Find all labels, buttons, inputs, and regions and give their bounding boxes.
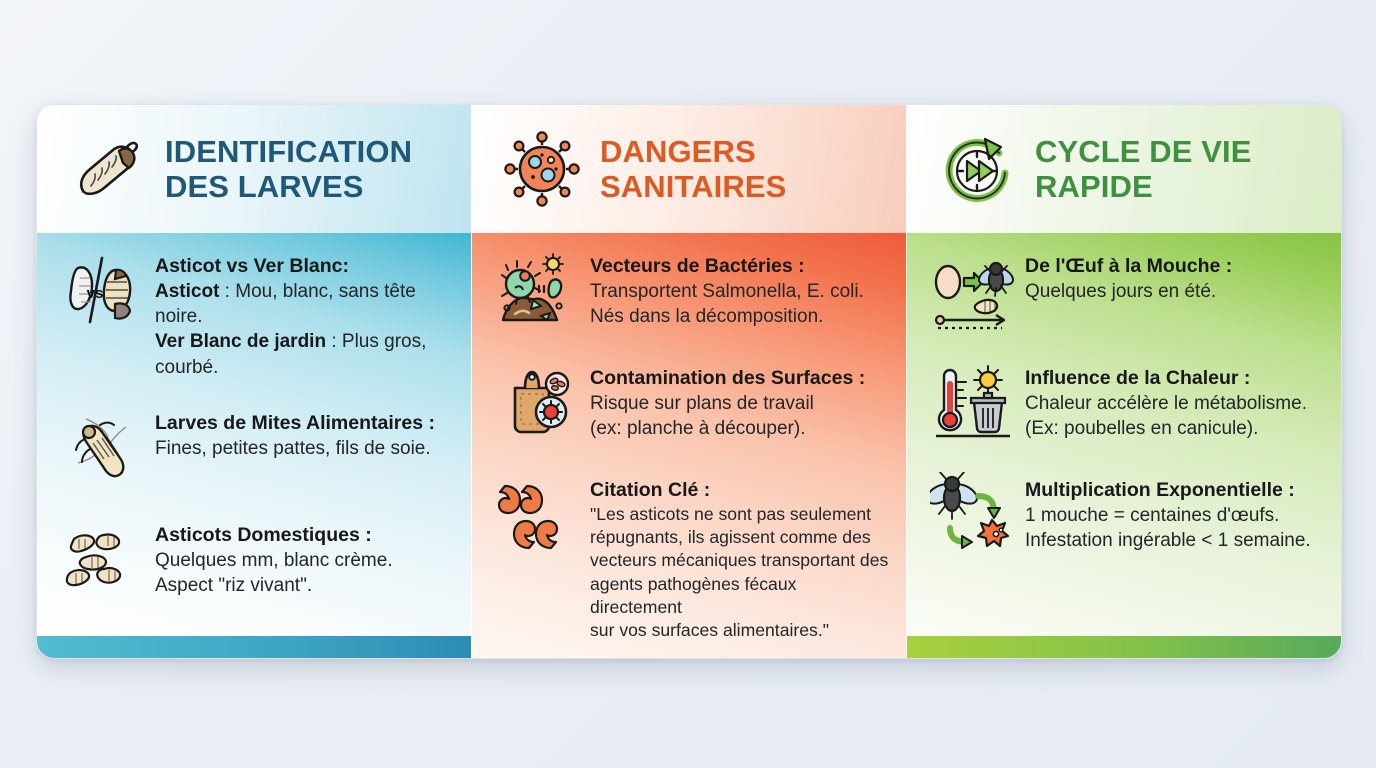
quote-line: agents pathogènes fécaux directement <box>590 573 890 619</box>
item-title: Vecteurs de Bactéries : <box>590 254 890 279</box>
item-line-rest: "Les asticots ne sont pas seulement <box>590 504 871 524</box>
list-item: Larves de Mites Alimentaires : Fines, pe… <box>51 404 455 492</box>
column-cycle: CYCLE DE VIE RAPIDE <box>906 105 1341 658</box>
item-line: Quelques jours en été. <box>1025 279 1325 304</box>
column-dangers: DANGERS SANITAIRES <box>471 105 906 658</box>
accent-bar-cycle <box>907 636 1341 658</box>
list-item: Influence de la Chaleur : Chaleur accélè… <box>921 359 1325 447</box>
item-line: Aspect "riz vivant". <box>155 573 455 598</box>
list-item-text: Asticot vs Ver Blanc: Asticot : Mou, bla… <box>155 247 455 380</box>
column-body-cycle: De l'Œuf à la Mouche : Quelques jours en… <box>907 233 1341 636</box>
title-line-1: IDENTIFICATION <box>165 134 412 169</box>
item-line-rest: Infestation ingérable < 1 semaine. <box>1025 530 1311 551</box>
virus-icon <box>494 121 590 217</box>
title-line-1: DANGERS <box>600 134 786 169</box>
list-item-text: Vecteurs de Bactéries : Transportent Sal… <box>590 247 890 329</box>
item-line-rest: Aspect "riz vivant". <box>155 575 312 596</box>
item-line: Risque sur plans de travail <box>590 391 890 416</box>
list-item: vs Asticot vs Ver Blanc: Asticot : Mou, … <box>51 247 455 380</box>
item-line: (ex: planche à découper). <box>590 416 890 441</box>
item-line-rest: sur vos surfaces alimentaires." <box>590 620 829 640</box>
item-line-rest: Transportent Salmonella, E. coli. <box>590 281 864 302</box>
fly-multiplication-icon <box>921 471 1025 559</box>
svg-text:vs: vs <box>87 285 104 302</box>
infographic-card: IDENTIFICATION DES LARVES <box>36 104 1342 659</box>
item-title: Larves de Mites Alimentaires : <box>155 411 455 436</box>
larva-versus-grub-icon: vs <box>51 247 155 335</box>
item-title: De l'Œuf à la Mouche : <box>1025 254 1325 279</box>
title-line-2: SANITAIRES <box>600 169 786 204</box>
accent-bar-identification <box>37 636 471 658</box>
item-line: Quelques mm, blanc crème. <box>155 548 455 573</box>
column-header-identification: IDENTIFICATION DES LARVES <box>37 105 471 233</box>
column-title-dangers: DANGERS SANITAIRES <box>600 134 786 204</box>
quote-line: répugnants, ils agissent comme des <box>590 526 890 549</box>
list-item-text: Asticots Domestiques : Quelques mm, blan… <box>155 516 455 598</box>
list-item: Multiplication Exponentielle : 1 mouche … <box>921 471 1325 559</box>
item-title: Asticot vs Ver Blanc: <box>155 254 455 279</box>
quote-line: vecteurs mécaniques transportant des <box>590 549 890 572</box>
bacteria-on-waste-icon <box>486 247 590 335</box>
list-item-text: Citation Clé : "Les asticots ne sont pas… <box>590 471 890 642</box>
item-line-rest: répugnants, ils agissent comme des <box>590 527 871 547</box>
item-line: Ver Blanc de jardin : Plus gros, courbé. <box>155 329 455 380</box>
list-item-text: Influence de la Chaleur : Chaleur accélè… <box>1025 359 1325 441</box>
column-identification: IDENTIFICATION DES LARVES <box>37 105 471 658</box>
quote-line: "Les asticots ne sont pas seulement <box>590 503 890 526</box>
item-line-rest: (Ex: poubelles en canicule). <box>1025 418 1258 439</box>
list-item: De l'Œuf à la Mouche : Quelques jours en… <box>921 247 1325 335</box>
item-line: Fines, petites pattes, fils de soie. <box>155 436 455 461</box>
item-line-rest: Chaleur accélère le métabolisme. <box>1025 393 1307 414</box>
item-line-bold: Asticot <box>155 281 219 302</box>
item-line-rest: Quelques jours en été. <box>1025 281 1216 302</box>
list-item: Asticots Domestiques : Quelques mm, blan… <box>51 516 455 604</box>
maggot-cluster-icon <box>51 516 155 604</box>
column-body-dangers: Vecteurs de Bactéries : Transportent Sal… <box>472 233 906 659</box>
item-line-rest: agents pathogènes fécaux directement <box>590 574 796 617</box>
item-line-rest: 1 mouche = centaines d'œufs. <box>1025 505 1279 526</box>
column-body-identification: vs Asticot vs Ver Blanc: Asticot : Mou, … <box>37 233 471 636</box>
item-line-rest: Fines, petites pattes, fils de soie. <box>155 438 431 459</box>
egg-to-fly-icon <box>921 247 1025 335</box>
item-title: Citation Clé : <box>590 478 890 503</box>
title-line-2: DES LARVES <box>165 169 412 204</box>
cutting-board-contamination-icon <box>486 359 590 447</box>
item-title: Multiplication Exponentielle : <box>1025 478 1325 503</box>
item-line: 1 mouche = centaines d'œufs. <box>1025 503 1325 528</box>
list-item: Vecteurs de Bactéries : Transportent Sal… <box>486 247 890 335</box>
item-line: Nés dans la décomposition. <box>590 304 890 329</box>
item-title: Contamination des Surfaces : <box>590 366 890 391</box>
item-line-rest: vecteurs mécaniques transportant des <box>590 550 888 570</box>
list-item: Citation Clé : "Les asticots ne sont pas… <box>486 471 890 642</box>
item-line: Infestation ingérable < 1 semaine. <box>1025 528 1325 553</box>
list-item-text: Larves de Mites Alimentaires : Fines, pe… <box>155 404 455 461</box>
list-item-text: Contamination des Surfaces : Risque sur … <box>590 359 890 441</box>
title-line-2: RAPIDE <box>1035 169 1252 204</box>
item-title: Asticots Domestiques : <box>155 523 455 548</box>
list-item-text: De l'Œuf à la Mouche : Quelques jours en… <box>1025 247 1325 304</box>
item-title: Influence de la Chaleur : <box>1025 366 1325 391</box>
item-line: Asticot : Mou, blanc, sans tête noire. <box>155 279 455 330</box>
item-line-rest: Nés dans la décomposition. <box>590 306 823 327</box>
infographic-page: IDENTIFICATION DES LARVES <box>0 0 1376 768</box>
quote-line: sur vos surfaces alimentaires." <box>590 619 890 642</box>
column-title-cycle: CYCLE DE VIE RAPIDE <box>1035 134 1252 204</box>
title-line-1: CYCLE DE VIE <box>1035 134 1252 169</box>
item-line: Transportent Salmonella, E. coli. <box>590 279 890 304</box>
item-line-bold: Ver Blanc de jardin <box>155 331 326 352</box>
thermometer-bin-icon <box>921 359 1025 447</box>
quotation-marks-icon <box>486 471 590 559</box>
list-item: Contamination des Surfaces : Risque sur … <box>486 359 890 447</box>
column-title-identification: IDENTIFICATION DES LARVES <box>165 134 412 204</box>
item-line: Chaleur accélère le métabolisme. <box>1025 391 1325 416</box>
item-line-rest: Risque sur plans de travail <box>590 393 814 414</box>
fast-cycle-icon <box>929 121 1025 217</box>
item-line-rest: Quelques mm, blanc crème. <box>155 550 393 571</box>
list-item-text: Multiplication Exponentielle : 1 mouche … <box>1025 471 1325 553</box>
item-line-rest: (ex: planche à découper). <box>590 418 805 439</box>
larva-icon <box>59 121 155 217</box>
item-line: (Ex: poubelles en canicule). <box>1025 416 1325 441</box>
pantry-moth-larva-icon <box>51 404 155 492</box>
column-header-cycle: CYCLE DE VIE RAPIDE <box>907 105 1341 233</box>
column-header-dangers: DANGERS SANITAIRES <box>472 105 906 233</box>
